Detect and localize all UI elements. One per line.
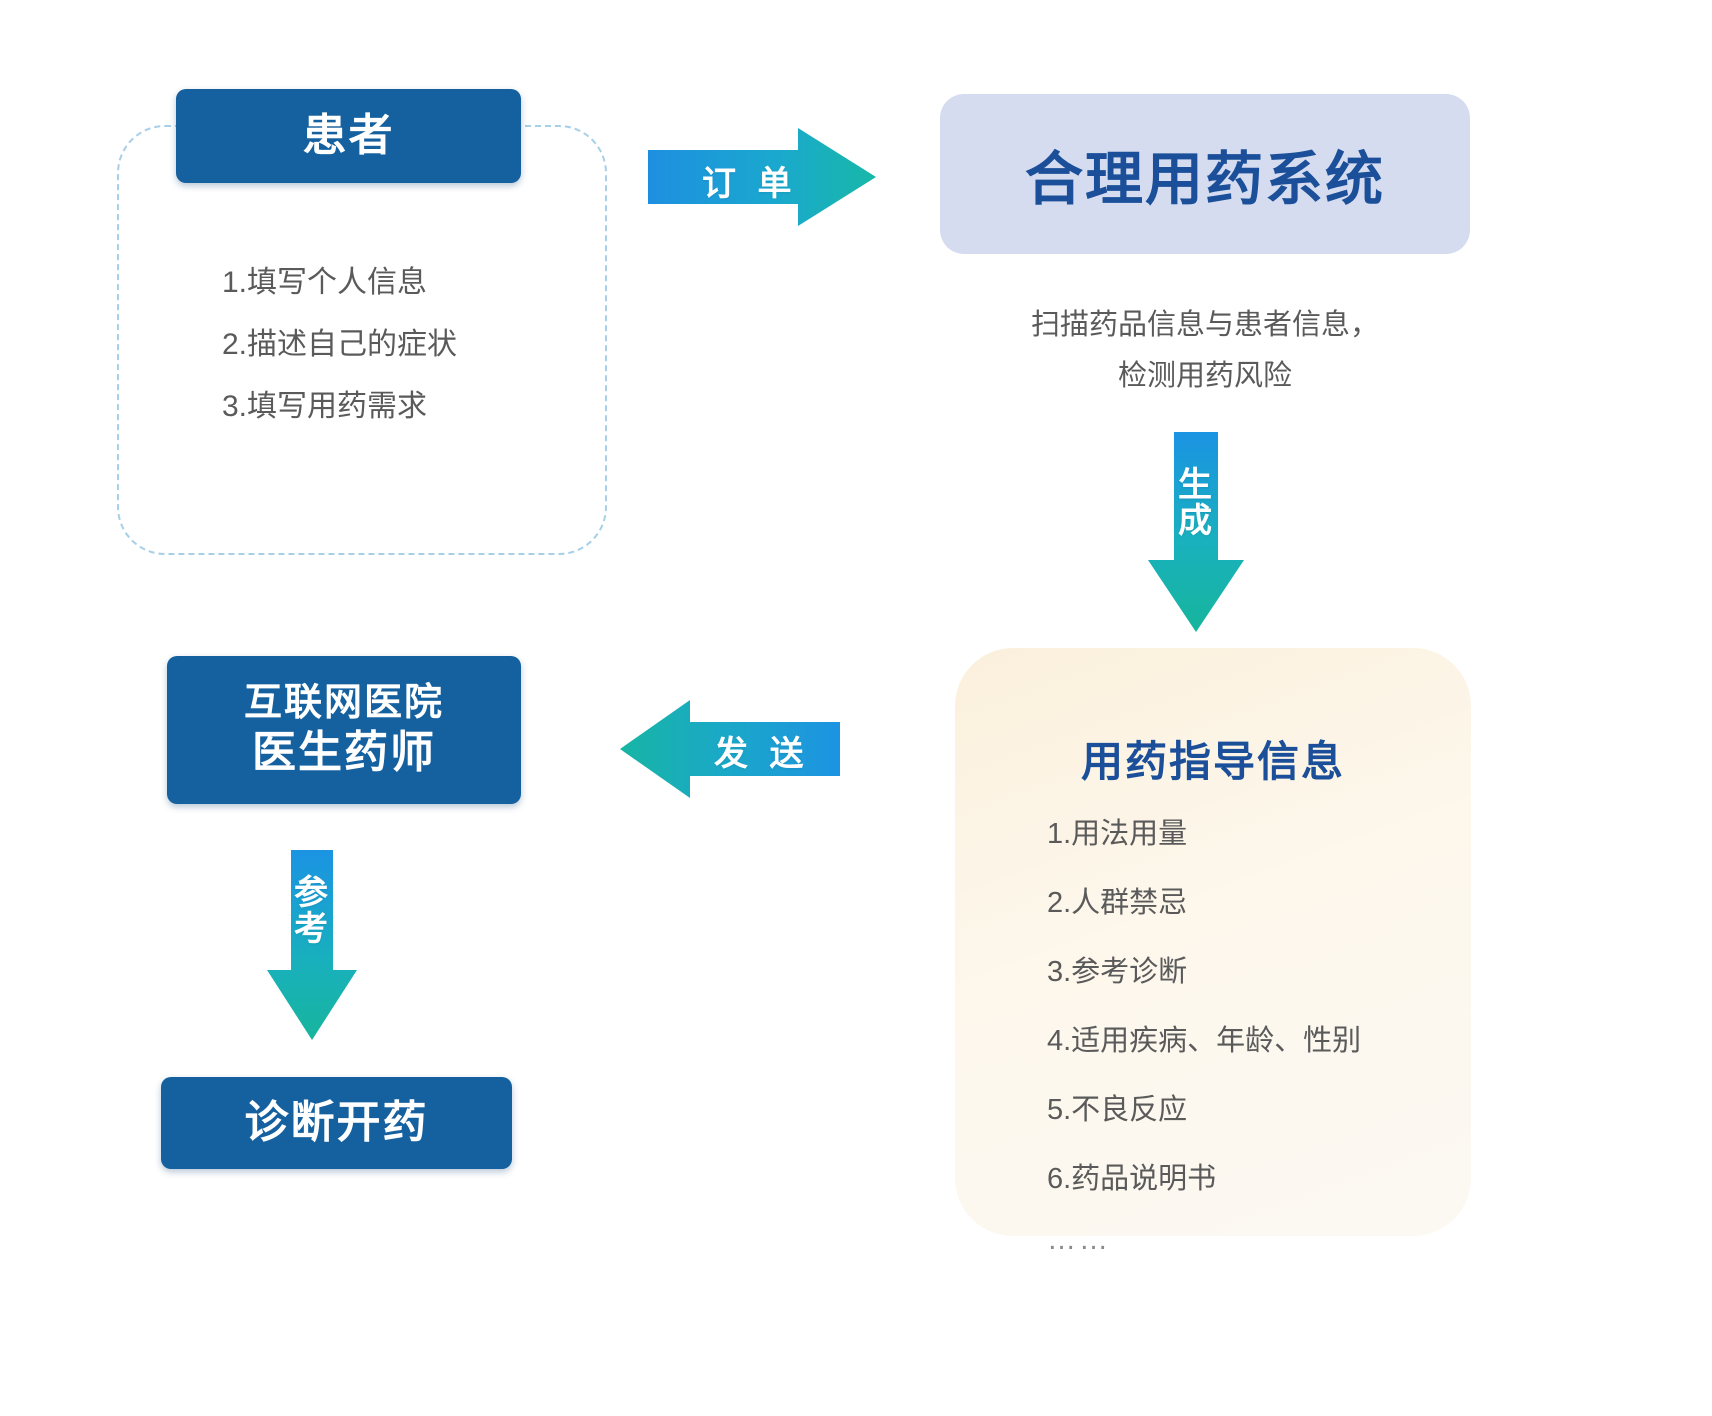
list-item: …… bbox=[1047, 1224, 1467, 1257]
prescribe-node-label: 诊断开药 bbox=[245, 1097, 429, 1149]
system-description: 扫描药品信息与患者信息， 检测用药风险 bbox=[940, 300, 1470, 402]
system-node[interactable]: 合理用药系统 bbox=[940, 94, 1470, 254]
patient-steps-list: 1.填写个人信息 2.描述自己的症状 3.填写用药需求 bbox=[222, 268, 602, 454]
order-arrow-label: 订 单 bbox=[702, 156, 797, 205]
internet-hospital-label-line-1: 互联网医院 bbox=[244, 681, 444, 726]
refer-arrow-char-1: 参 bbox=[294, 874, 328, 912]
system-description-line-1: 扫描药品信息与患者信息， bbox=[940, 300, 1470, 351]
send-arrow: 发 送 bbox=[620, 700, 840, 798]
send-arrow-label: 发 送 bbox=[714, 726, 809, 775]
guidance-items-list: 1.用法用量 2.人群禁忌 3.参考诊断 4.适用疾病、年龄、性别 5.不良反应… bbox=[1047, 810, 1467, 1284]
system-description-line-2: 检测用药风险 bbox=[940, 351, 1470, 402]
prescribe-node[interactable]: 诊断开药 bbox=[161, 1077, 512, 1169]
list-item: 6.药品说明书 bbox=[1047, 1155, 1467, 1197]
generate-arrow: 生 成 bbox=[1148, 432, 1244, 632]
generate-arrow-label: 生 成 bbox=[1175, 468, 1215, 539]
order-arrow: 订 单 bbox=[648, 128, 876, 226]
internet-hospital-node[interactable]: 互联网医院 医生药师 bbox=[167, 656, 521, 804]
patient-node[interactable]: 患者 bbox=[176, 89, 521, 183]
refer-arrow-label: 参 考 bbox=[291, 876, 331, 947]
list-item: 1.填写个人信息 bbox=[222, 268, 602, 298]
list-item: 2.描述自己的症状 bbox=[222, 330, 602, 360]
list-item: 3.填写用药需求 bbox=[222, 392, 602, 422]
refer-arrow-char-2: 考 bbox=[294, 910, 328, 948]
flowchart-canvas: 患者 1.填写个人信息 2.描述自己的症状 3.填写用药需求 订 单 合理用药系… bbox=[0, 0, 1712, 1416]
internet-hospital-label-line-2: 医生药师 bbox=[252, 727, 436, 779]
list-item: 5.不良反应 bbox=[1047, 1086, 1467, 1128]
generate-arrow-char-1: 生 bbox=[1178, 466, 1212, 504]
list-item: 1.用法用量 bbox=[1047, 810, 1467, 852]
guidance-card-title: 用药指导信息 bbox=[955, 728, 1471, 789]
patient-node-label: 患者 bbox=[303, 110, 395, 162]
list-item: 2.人群禁忌 bbox=[1047, 879, 1467, 921]
system-node-title: 合理用药系统 bbox=[1025, 132, 1385, 216]
refer-arrow: 参 考 bbox=[267, 850, 357, 1040]
generate-arrow-char-2: 成 bbox=[1178, 502, 1212, 540]
list-item: 3.参考诊断 bbox=[1047, 948, 1467, 990]
list-item: 4.适用疾病、年龄、性别 bbox=[1047, 1017, 1467, 1059]
guidance-card[interactable]: 用药指导信息 1.用法用量 2.人群禁忌 3.参考诊断 4.适用疾病、年龄、性别… bbox=[955, 648, 1471, 1236]
